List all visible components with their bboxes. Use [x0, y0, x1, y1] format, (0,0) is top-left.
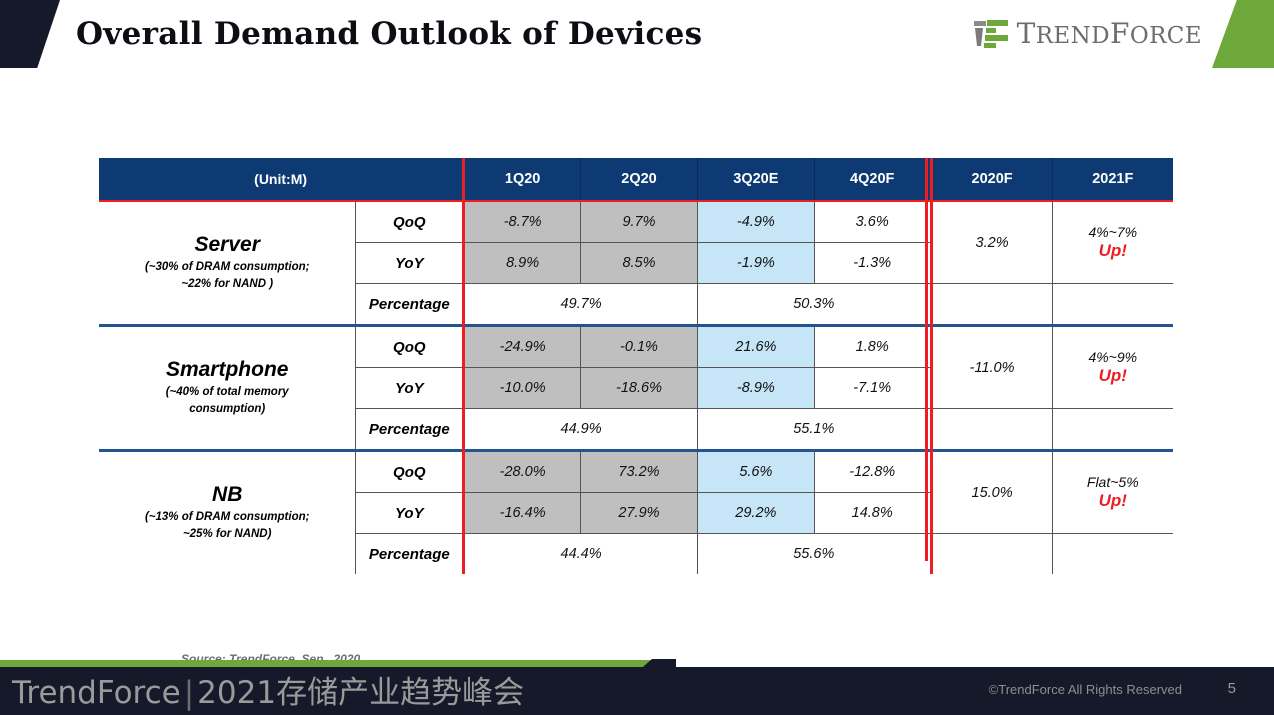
column-header-3q20e: 3Q20E — [697, 158, 814, 201]
category-name-smartphone: Smartphone — [99, 358, 355, 382]
cell-server-2021f-range: 4%~7% — [1053, 224, 1173, 242]
category-note-server-line2: ~22% for NAND ) — [99, 277, 355, 293]
metric-label-nb-yoy: YoY — [356, 493, 464, 534]
metric-label-smartphone-qoq: QoQ — [356, 327, 464, 368]
footer-copyright: ©TrendForce All Rights Reserved — [989, 682, 1182, 697]
metric-label-smartphone-percentage: Percentage — [356, 409, 464, 451]
metric-label-server-yoy: YoY — [356, 243, 464, 284]
brand-wordmark: TRENDFORCE — [1017, 20, 1202, 48]
category-cell-nb: NB (~13% of DRAM consumption; ~25% for N… — [99, 452, 356, 574]
column-header-4q20f: 4Q20F — [814, 158, 931, 201]
footer-brand: TrendForce — [12, 675, 181, 711]
cell-smartphone-qoq-4q20f: 1.8% — [814, 327, 931, 368]
cell-nb-2020f: 15.0% — [931, 452, 1052, 534]
cell-nb-yoy-3q20e: 29.2% — [697, 493, 814, 534]
brand-letters-orce: ORCE — [1130, 23, 1202, 49]
cell-server-2020f: 3.2% — [931, 202, 1052, 284]
cell-nb-qoq-4q20f: -12.8% — [814, 452, 931, 493]
category-note-server-line1: (~30% of DRAM consumption; — [99, 260, 355, 276]
column-header-2020f: 2020F — [931, 158, 1052, 201]
category-note-nb-line2: ~25% for NAND) — [99, 527, 355, 543]
trendforce-logo-icon — [974, 19, 1008, 49]
footer-title: TrendForce|2021存储产业趋势峰会 — [12, 673, 524, 713]
brand-letter-f: F — [1110, 17, 1130, 50]
table-row: Smartphone (~40% of total memory consump… — [99, 327, 1173, 368]
cell-nb-2021f-range: Flat~5% — [1053, 474, 1173, 492]
column-header-2021f: 2021F — [1052, 158, 1173, 201]
cell-smartphone-percentage-2020f — [931, 409, 1052, 451]
cell-smartphone-percentage-h2: 55.1% — [697, 409, 931, 451]
trendforce-brand-logo: TRENDFORCE — [974, 19, 1202, 49]
cell-server-2021f-flag: Up! — [1053, 241, 1173, 261]
top-left-accent-shape — [0, 0, 60, 68]
cell-server-2021f: 4%~7% Up! — [1052, 202, 1173, 284]
brand-letter-t: T — [1017, 17, 1036, 50]
cell-nb-yoy-1q20: -16.4% — [464, 493, 581, 534]
cell-server-percentage-2021f — [1052, 284, 1173, 326]
category-note-smartphone-line2: consumption) — [99, 402, 355, 418]
cell-smartphone-yoy-4q20f: -7.1% — [814, 368, 931, 409]
footer-bar: TrendForce|2021存储产业趋势峰会 ©TrendForce All … — [0, 667, 1274, 715]
cell-server-qoq-1q20: -8.7% — [464, 202, 581, 243]
cell-server-yoy-2q20: 8.5% — [581, 243, 698, 284]
cell-server-yoy-1q20: 8.9% — [464, 243, 581, 284]
cell-server-yoy-3q20e: -1.9% — [697, 243, 814, 284]
cell-server-percentage-2020f — [931, 284, 1052, 326]
metric-label-nb-qoq: QoQ — [356, 452, 464, 493]
column-header-1q20: 1Q20 — [464, 158, 581, 201]
red-divider-before-2020f — [925, 158, 928, 561]
demand-outlook-table-wrapper: (Unit:M) 1Q20 2Q20 3Q20E 4Q20F 2020F 202… — [99, 158, 1173, 574]
footer-separator: | — [181, 675, 197, 711]
page-title: Overall Demand Outlook of Devices — [76, 16, 702, 52]
category-cell-smartphone: Smartphone (~40% of total memory consump… — [99, 327, 356, 451]
cell-smartphone-2021f: 4%~9% Up! — [1052, 327, 1173, 409]
cell-nb-2021f: Flat~5% Up! — [1052, 452, 1173, 534]
cell-smartphone-qoq-3q20e: 21.6% — [697, 327, 814, 368]
table-header-row: (Unit:M) 1Q20 2Q20 3Q20E 4Q20F 2020F 202… — [99, 158, 1173, 201]
category-name-server: Server — [99, 233, 355, 257]
cell-smartphone-2021f-flag: Up! — [1053, 366, 1173, 386]
cell-server-qoq-2q20: 9.7% — [581, 202, 698, 243]
cell-nb-qoq-1q20: -28.0% — [464, 452, 581, 493]
cell-nb-percentage-h1: 44.4% — [464, 534, 698, 575]
cell-server-percentage-h2: 50.3% — [697, 284, 931, 326]
footer-event-name: 2021存储产业趋势峰会 — [197, 675, 524, 711]
top-right-accent-shape — [1212, 0, 1274, 68]
footer-green-bar — [0, 660, 648, 667]
cell-server-qoq-4q20f: 3.6% — [814, 202, 931, 243]
cell-smartphone-2020f: -11.0% — [931, 327, 1052, 409]
cell-smartphone-yoy-3q20e: -8.9% — [697, 368, 814, 409]
category-cell-server: Server (~30% of DRAM consumption; ~22% f… — [99, 202, 356, 326]
cell-smartphone-2021f-range: 4%~9% — [1053, 349, 1173, 367]
category-note-smartphone-line1: (~40% of total memory — [99, 385, 355, 401]
metric-label-server-percentage: Percentage — [356, 284, 464, 326]
page-number: 5 — [1228, 680, 1236, 697]
cell-nb-yoy-4q20f: 14.8% — [814, 493, 931, 534]
cell-server-qoq-3q20e: -4.9% — [697, 202, 814, 243]
cell-nb-yoy-2q20: 27.9% — [581, 493, 698, 534]
cell-nb-percentage-h2: 55.6% — [697, 534, 931, 575]
table-header: (Unit:M) 1Q20 2Q20 3Q20E 4Q20F 2020F 202… — [99, 158, 1173, 201]
cell-server-yoy-4q20f: -1.3% — [814, 243, 931, 284]
category-name-nb: NB — [99, 483, 355, 507]
cell-smartphone-yoy-1q20: -10.0% — [464, 368, 581, 409]
category-note-nb-line1: (~13% of DRAM consumption; — [99, 510, 355, 526]
cell-server-percentage-h1: 49.7% — [464, 284, 698, 326]
metric-label-nb-percentage: Percentage — [356, 534, 464, 575]
metric-label-smartphone-yoy: YoY — [356, 368, 464, 409]
cell-smartphone-yoy-2q20: -18.6% — [581, 368, 698, 409]
demand-outlook-table: (Unit:M) 1Q20 2Q20 3Q20E 4Q20F 2020F 202… — [99, 158, 1173, 574]
table-row: Server (~30% of DRAM consumption; ~22% f… — [99, 202, 1173, 243]
cell-nb-2021f-flag: Up! — [1053, 491, 1173, 511]
brand-letters-rend: REND — [1036, 23, 1110, 49]
cell-nb-qoq-2q20: 73.2% — [581, 452, 698, 493]
cell-smartphone-qoq-1q20: -24.9% — [464, 327, 581, 368]
table-body: Server (~30% of DRAM consumption; ~22% f… — [99, 201, 1173, 574]
metric-label-server-qoq: QoQ — [356, 202, 464, 243]
cell-smartphone-percentage-h1: 44.9% — [464, 409, 698, 451]
column-header-2q20: 2Q20 — [581, 158, 698, 201]
cell-smartphone-qoq-2q20: -0.1% — [581, 327, 698, 368]
cell-smartphone-percentage-2021f — [1052, 409, 1173, 451]
column-header-unit: (Unit:M) — [99, 158, 464, 201]
cell-nb-percentage-2021f — [1052, 534, 1173, 575]
cell-nb-qoq-3q20e: 5.6% — [697, 452, 814, 493]
cell-nb-percentage-2020f — [931, 534, 1052, 575]
table-row: NB (~13% of DRAM consumption; ~25% for N… — [99, 452, 1173, 493]
